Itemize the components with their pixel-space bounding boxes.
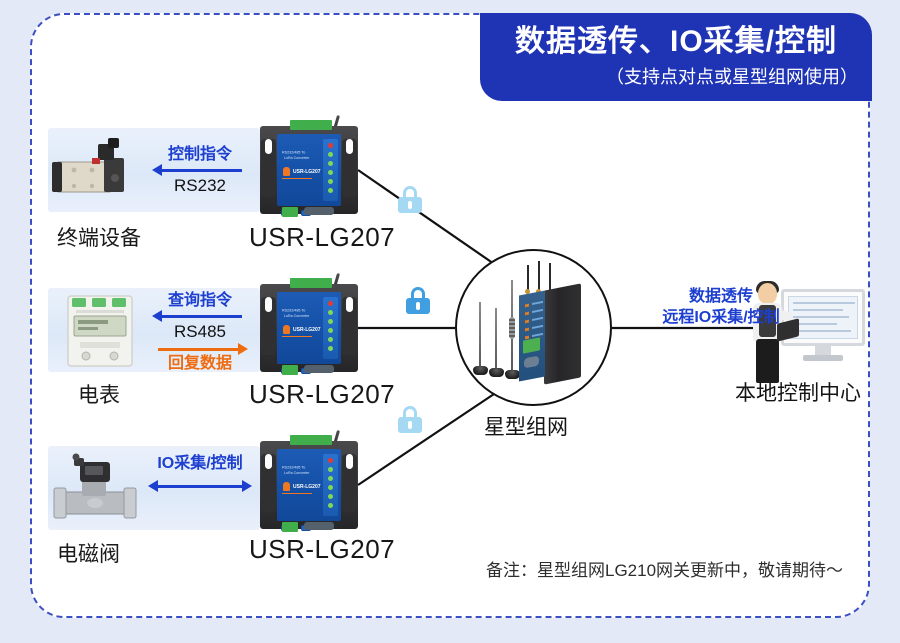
antenna-icon-2	[489, 309, 504, 377]
converter-label-1: USR-LG207	[249, 222, 395, 253]
usr-logo-icon	[283, 482, 290, 491]
db9-port	[304, 522, 334, 530]
converter-label-3: USR-LG207	[249, 534, 395, 565]
gateway-label: 星型组网	[484, 411, 568, 441]
arrow-group-1: 控制指令 RS232	[152, 146, 248, 197]
device-model: USR-LG207	[293, 327, 321, 333]
promo-diagram: 数据透传、IO采集/控制 （支持点对点或星型组网使用） 终端设备 控制指令 RS…	[0, 0, 900, 643]
usr-lg207-device-1: RS232/485 To LoRa Converter USR-LG207	[260, 117, 358, 221]
led-column	[323, 297, 338, 359]
terminal-block-top	[290, 120, 332, 130]
usr-lg207-device-2: RS232/485 To LoRa Converter USR-LG207	[260, 275, 358, 379]
gateway-circle	[455, 249, 612, 406]
arrow-caption-3: IO采集/控制	[148, 455, 252, 473]
terminal-block-bottom	[282, 522, 298, 532]
padlock-icon-2	[406, 287, 430, 314]
device-line1: RS232/485 To	[282, 308, 305, 313]
terminal-block-top	[290, 278, 332, 288]
db9-port	[304, 207, 334, 215]
db9-port	[304, 365, 334, 373]
led-column	[323, 139, 338, 201]
device-line1: RS232/485 To	[282, 465, 305, 470]
footnote: 备注：星型组网LG210网关更新中，敬请期待～	[486, 556, 843, 581]
led-column	[323, 454, 338, 516]
usr-lg207-device-3: RS232/485 To LoRa Converter USR-LG207	[260, 432, 358, 536]
antenna-icon-3	[505, 281, 520, 379]
arrow-left-2	[152, 310, 248, 322]
device-line2: LoRa Converter	[284, 156, 309, 160]
arrow-group-2: 查询指令 RS485 回复数据	[152, 292, 248, 373]
converter-label-2: USR-LG207	[249, 379, 395, 410]
device-model: USR-LG207	[293, 169, 321, 175]
usr-logo-icon	[283, 325, 290, 334]
banner-subtitle: （支持点对点或星型组网使用）	[606, 63, 858, 89]
arrow-left-1	[152, 164, 248, 176]
arrow-group-3: IO采集/控制	[148, 455, 252, 492]
banner-title: 数据透传、IO采集/控制	[515, 25, 837, 60]
header-banner: 数据透传、IO采集/控制 （支持点对点或星型组网使用）	[480, 13, 872, 101]
solenoid-valve-icon	[52, 452, 144, 524]
arrow-caption-2a: 查询指令	[152, 292, 248, 310]
right-caption-line2: 远程IO采集/控制	[641, 308, 801, 329]
control-center-label: 本地控制中心	[735, 377, 861, 407]
electric-meter-icon	[66, 294, 136, 368]
terminal-block-bottom	[282, 207, 298, 217]
terminal-device-icon	[52, 136, 138, 206]
device-line2: LoRa Converter	[284, 471, 309, 475]
terminal-block-top	[290, 435, 332, 445]
terminal-block-bottom	[282, 365, 298, 375]
right-caption-line1: 数据透传	[641, 287, 801, 308]
row-label-3: 电磁阀	[57, 538, 120, 568]
device-line1: RS232/485 To	[282, 150, 305, 155]
arrow-caption-1: 控制指令	[152, 146, 248, 164]
antenna-icon-1	[473, 303, 488, 375]
arrow-both-3	[148, 480, 252, 492]
padlock-icon-3	[398, 406, 422, 433]
arrow-right-2	[152, 343, 248, 355]
bus-label-1: RS232	[152, 176, 248, 196]
device-line2: LoRa Converter	[284, 314, 309, 318]
lora-gateway-icon	[519, 287, 581, 379]
row-label-2: 电表	[78, 379, 120, 409]
right-caption: 数据透传 远程IO采集/控制	[641, 287, 801, 329]
bus-label-2: RS485	[152, 322, 248, 342]
device-model: USR-LG207	[293, 484, 321, 490]
row-label-1: 终端设备	[57, 222, 141, 252]
padlock-icon-1	[398, 186, 422, 213]
arrow-caption-2b: 回复数据	[152, 355, 248, 373]
usr-logo-icon	[283, 167, 290, 176]
